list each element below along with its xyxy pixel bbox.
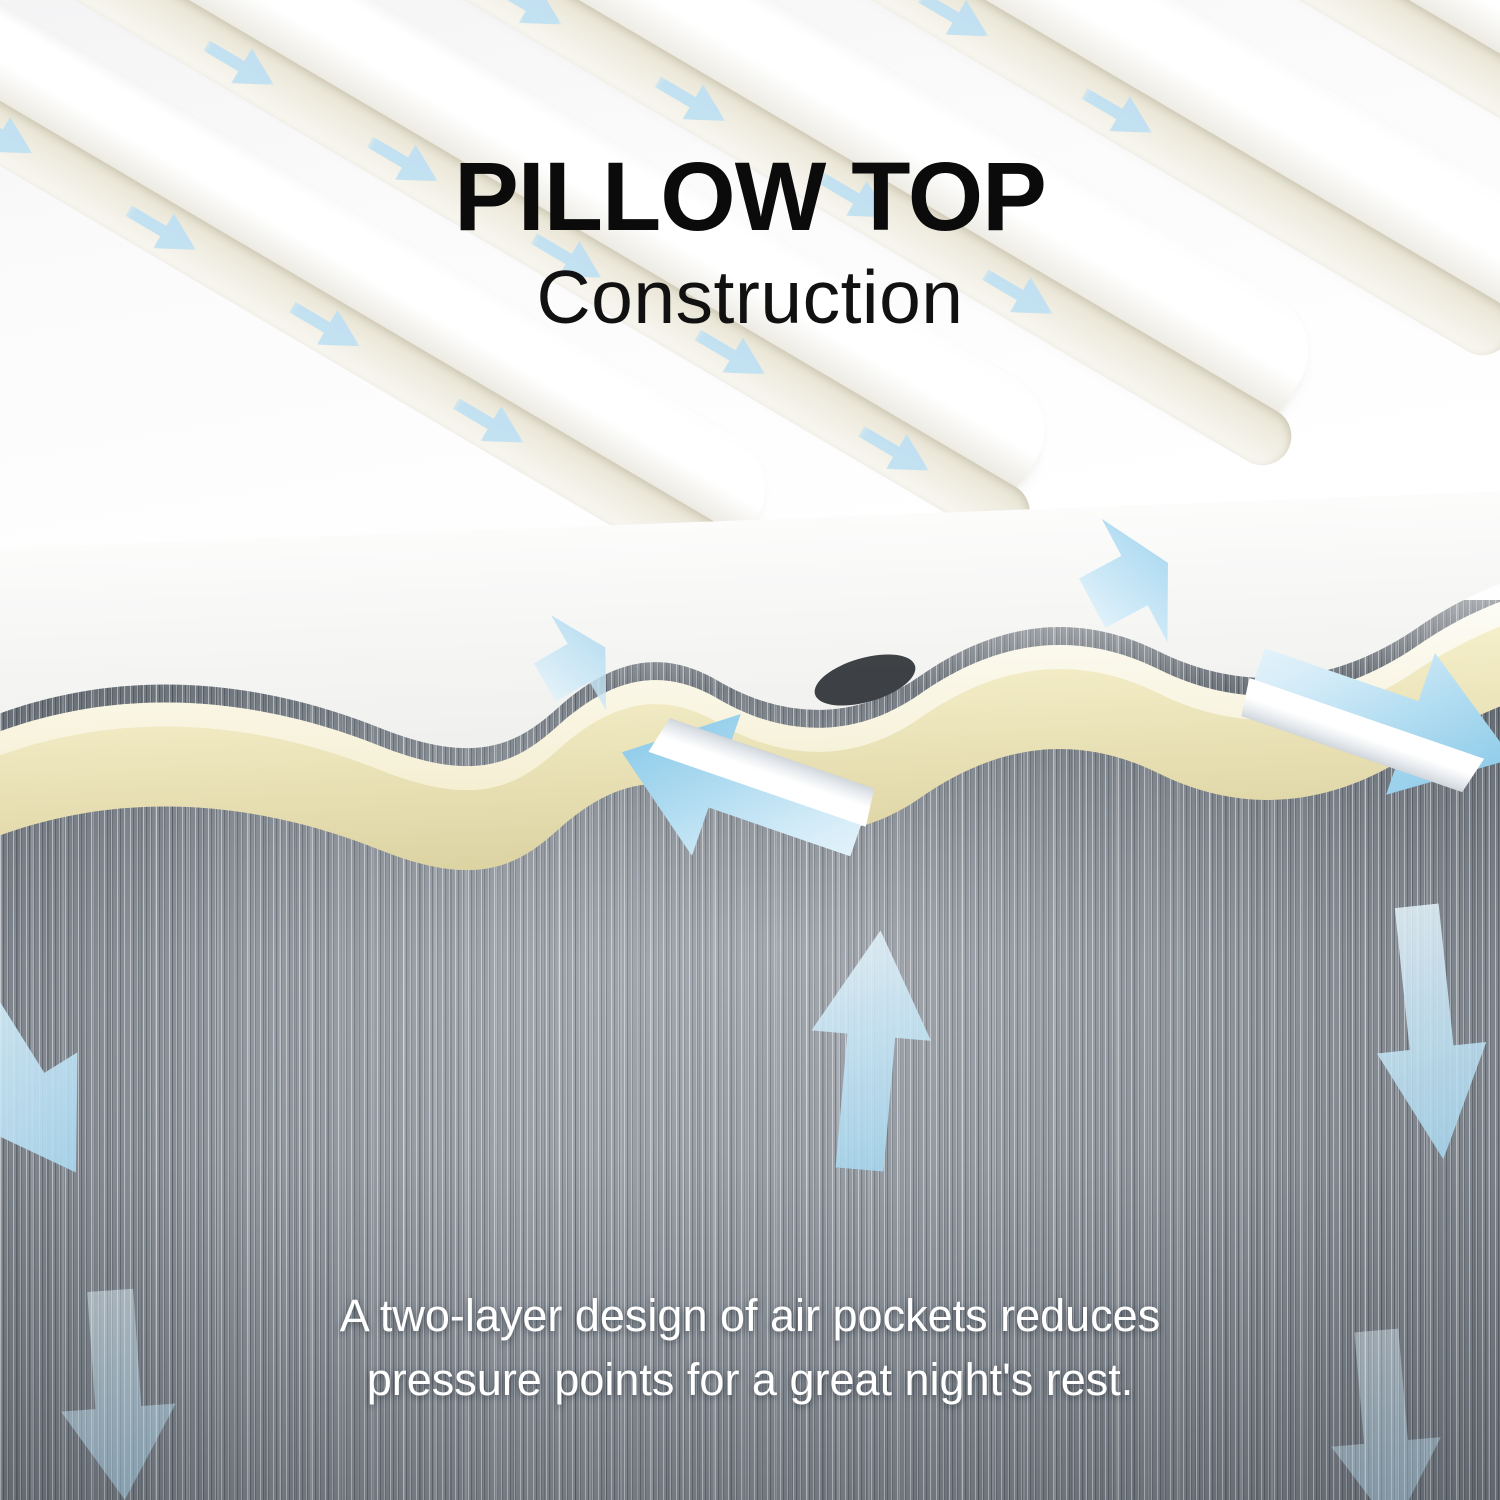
airflow-arrow-icon bbox=[32, 0, 123, 7]
caption-block: A two-layer design of air pockets reduce… bbox=[0, 1284, 1500, 1412]
infographic-canvas: PILLOW TOP Construction A two-layer desi… bbox=[0, 0, 1500, 1500]
caption-line-2: pressure points for a great night's rest… bbox=[170, 1348, 1330, 1412]
airflow-arrow-icon bbox=[910, 0, 1001, 55]
caption-line-1: A two-layer design of air pockets reduce… bbox=[170, 1284, 1330, 1348]
airflow-arrow-icon bbox=[483, 0, 574, 43]
